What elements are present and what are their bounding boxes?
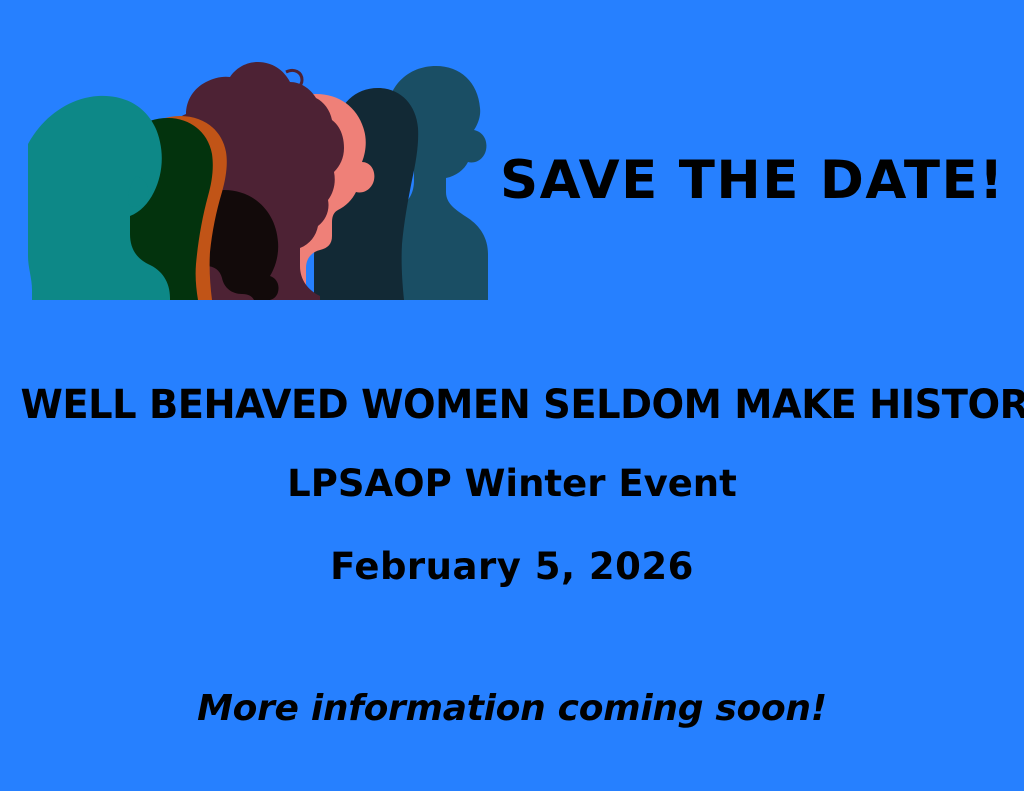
- more-information-note: More information coming soon!: [0, 688, 1024, 729]
- headline-save-the-date: SAVE THE DATE!: [500, 153, 1000, 209]
- save-the-date-flyer: SAVE THE DATE! WELL BEHAVED WOMEN SELDOM…: [0, 0, 1024, 791]
- tagline-text: WELL BEHAVED WOMEN SELDOM MAKE HISTORY: [20, 382, 1003, 428]
- figure-teal-hijab-icon: [28, 96, 170, 300]
- event-date-text: February 5, 2026: [0, 545, 1024, 588]
- womens-silhouettes-illustration: [28, 58, 488, 300]
- event-name-text: LPSAOP Winter Event: [0, 462, 1024, 505]
